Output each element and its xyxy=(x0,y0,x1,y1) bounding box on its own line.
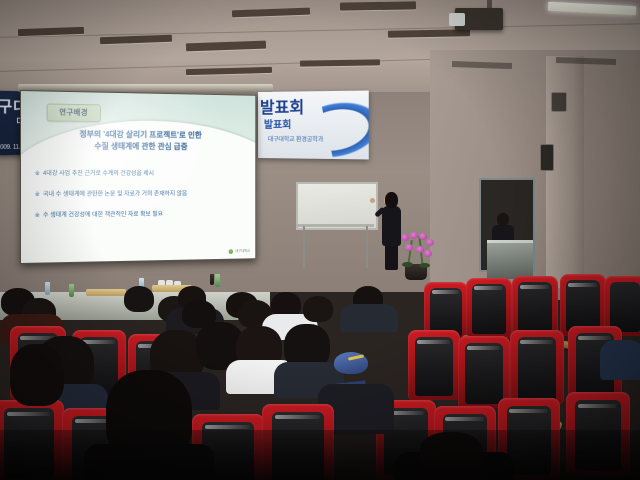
lecture-hall-photo: 구대 대구 2009. 11. 20 발표회 발표회 대구대학교 환경공학과 연… xyxy=(0,0,640,480)
banner-right-subtitle: 발표회 xyxy=(264,116,292,131)
foreground-shadow xyxy=(0,430,640,480)
slide-bullet-text: 4대강 사업 추진 근거로 수계의 건강성을 제시 xyxy=(43,170,154,177)
auditorium-seat[interactable] xyxy=(466,278,512,338)
presenter-hand xyxy=(370,198,375,203)
audience-head xyxy=(10,344,64,406)
seat-back xyxy=(415,337,452,396)
right-wall xyxy=(430,50,640,300)
lectern xyxy=(487,240,533,279)
audience-head xyxy=(303,296,333,322)
orchid-leaf xyxy=(402,262,413,267)
projector-lens xyxy=(449,13,465,26)
orchid-flower xyxy=(401,234,409,241)
auditorium-seat[interactable] xyxy=(512,276,558,338)
auditorium-seat[interactable] xyxy=(408,330,460,400)
slide-headline-line2: 수질 생태계에 관한 관심 급증 xyxy=(21,140,255,153)
whiteboard xyxy=(296,182,378,230)
water-bottle xyxy=(210,274,214,285)
slide-bullet-item: ※4대강 사업 추진 근거로 수계의 건강성을 제시 xyxy=(35,169,243,178)
seat-highlight xyxy=(509,409,547,413)
audience-shoulders xyxy=(600,340,640,380)
snack-tray xyxy=(86,289,126,296)
banner-right-department: 대구대학교 환경공학과 xyxy=(268,134,323,143)
whiteboard-leg xyxy=(366,226,368,268)
orchid-flower xyxy=(424,250,432,257)
whiteboard-leg xyxy=(303,226,305,268)
banner-right: 발표회 발표회 대구대학교 환경공학과 xyxy=(258,91,369,160)
water-bottle xyxy=(215,274,220,287)
seat-back xyxy=(465,343,502,403)
banner-right-title: 발표회 xyxy=(260,93,304,118)
auditorium-seat[interactable] xyxy=(510,330,564,404)
slide-bullet-item: ※국내 수 생태계에 관한한 논문 및 자료가 거의 존재하지 않음 xyxy=(35,189,243,199)
orchid-flower xyxy=(405,244,413,251)
seat-back xyxy=(566,280,599,332)
seat-back xyxy=(518,337,557,399)
seat-highlight xyxy=(568,283,597,287)
slide-bullet-item: ※수 생태계 건강성에 대한 객관적인 자료 확보 필요 xyxy=(35,209,243,220)
ceiling-light-fixture xyxy=(340,1,416,10)
slide-university-logo: 대구대학교 xyxy=(229,249,250,254)
whiteboard-tray xyxy=(296,224,374,227)
seat-highlight xyxy=(520,340,553,344)
wall-pillar xyxy=(546,56,584,288)
seat-highlight xyxy=(7,412,50,416)
seat-highlight xyxy=(445,417,483,421)
bullet-marker-icon: ※ xyxy=(35,191,40,198)
seat-highlight xyxy=(467,346,499,350)
audience-head xyxy=(124,286,154,312)
slide-logo-text: 대구대학교 xyxy=(235,249,250,254)
wall-speaker xyxy=(551,92,567,112)
slide-bullet-text: 국내 수 생태계에 관한한 논문 및 자료가 거의 존재하지 않음 xyxy=(43,190,187,197)
ceiling-light-fixture xyxy=(388,29,470,37)
seat-highlight xyxy=(474,286,503,290)
seat-highlight xyxy=(520,285,549,289)
seat-highlight xyxy=(578,336,611,340)
slide-bullet-list: ※4대강 사업 추진 근거로 수계의 건강성을 제시 ※국내 수 생태계에 관한… xyxy=(35,169,243,232)
seat-back xyxy=(472,284,505,334)
water-bottle xyxy=(69,284,74,297)
seat-back xyxy=(518,282,551,334)
seat-highlight xyxy=(417,340,449,344)
orchid-plant xyxy=(393,232,439,280)
podium-person-head xyxy=(497,213,509,226)
orchid-flower xyxy=(419,233,427,240)
seat-back xyxy=(610,282,640,332)
seat-highlight xyxy=(205,425,250,429)
audience-shoulders xyxy=(340,304,398,332)
slide-bullet-text: 수 생태계 건강성에 대한 객관적인 자료 확보 필요 xyxy=(43,211,163,219)
seat-highlight xyxy=(578,404,618,408)
orchid-flower xyxy=(416,246,424,253)
banner-swoosh-icon xyxy=(321,91,369,159)
seat-highlight xyxy=(275,415,320,419)
bullet-marker-icon: ※ xyxy=(35,170,40,177)
seat-highlight xyxy=(432,290,459,294)
slide-section-tab: 연구배경 xyxy=(47,103,101,122)
orchid-leaf xyxy=(419,263,430,268)
orchid-flower xyxy=(426,239,434,246)
logo-mark-icon xyxy=(229,249,233,254)
orchid-flower xyxy=(410,232,418,239)
slide-headline: 정부의 '4대강 살리기 프로젝트'로 인한 수질 생태계에 관한 관심 급증 xyxy=(21,128,255,153)
water-bottle xyxy=(45,282,50,295)
wall-speaker xyxy=(540,144,554,171)
bullet-marker-icon: ※ xyxy=(35,212,40,219)
projection-screen: 연구배경 정부의 '4대강 살리기 프로젝트'로 인한 수질 생태계에 관한 관… xyxy=(20,90,256,264)
presenter-head xyxy=(385,192,398,208)
